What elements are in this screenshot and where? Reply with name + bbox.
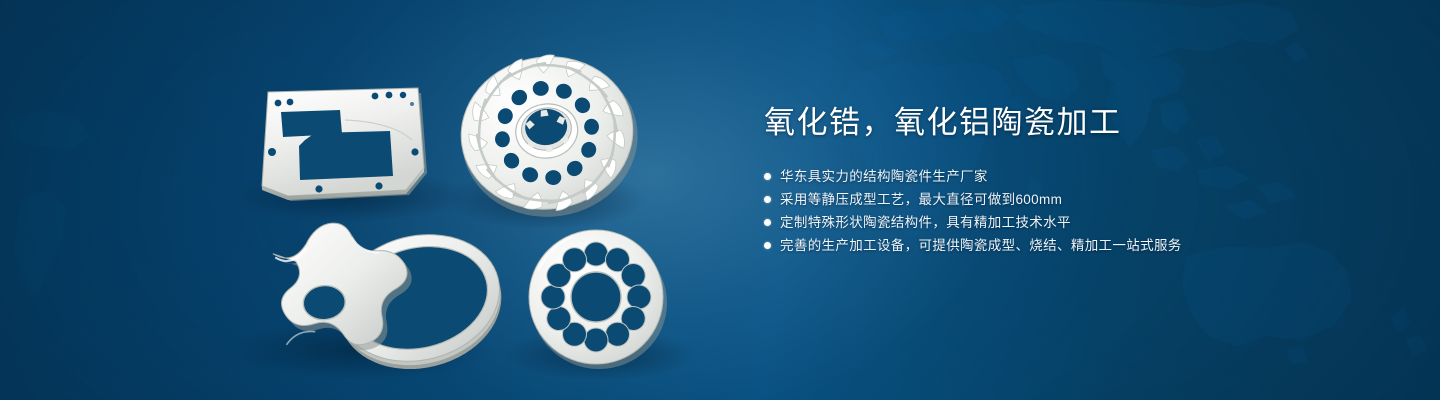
banner-copy: 氧化锆，氧化铝陶瓷加工 华东具实力的结构陶瓷件生产厂家 采用等静压成型工艺，最大… bbox=[764, 104, 1384, 261]
list-item-label: 采用等静压成型工艺，最大直径可做到600mm bbox=[780, 192, 1062, 207]
feature-list: 华东具实力的结构陶瓷件生产厂家 采用等静压成型工艺，最大直径可做到600mm 定… bbox=[764, 169, 1384, 253]
ceramic-plate-part bbox=[262, 88, 427, 201]
bullet-dot-icon bbox=[764, 173, 771, 180]
ceramic-perforated-disc-part bbox=[529, 230, 667, 369]
ceramic-products-image bbox=[0, 0, 720, 400]
list-item: 定制特殊形状陶瓷结构件，具有精加工技术水平 bbox=[764, 215, 1384, 230]
list-item-label: 定制特殊形状陶瓷结构件，具有精加工技术水平 bbox=[780, 215, 1071, 230]
bullet-dot-icon bbox=[764, 242, 771, 249]
list-item: 采用等静压成型工艺，最大直径可做到600mm bbox=[764, 192, 1384, 207]
page-title: 氧化锆，氧化铝陶瓷加工 bbox=[764, 104, 1384, 143]
bullet-dot-icon bbox=[764, 196, 771, 203]
list-item: 华东具实力的结构陶瓷件生产厂家 bbox=[764, 169, 1384, 184]
list-item-label: 完善的生产加工设备，可提供陶瓷成型、烧结、精加工一站式服务 bbox=[780, 238, 1182, 253]
bullet-dot-icon bbox=[764, 219, 771, 226]
hero-banner: 氧化锆，氧化铝陶瓷加工 华东具实力的结构陶瓷件生产厂家 采用等静压成型工艺，最大… bbox=[0, 0, 1440, 400]
list-item-label: 华东具实力的结构陶瓷件生产厂家 bbox=[780, 169, 988, 184]
list-item: 完善的生产加工设备，可提供陶瓷成型、烧结、精加工一站式服务 bbox=[764, 238, 1384, 253]
